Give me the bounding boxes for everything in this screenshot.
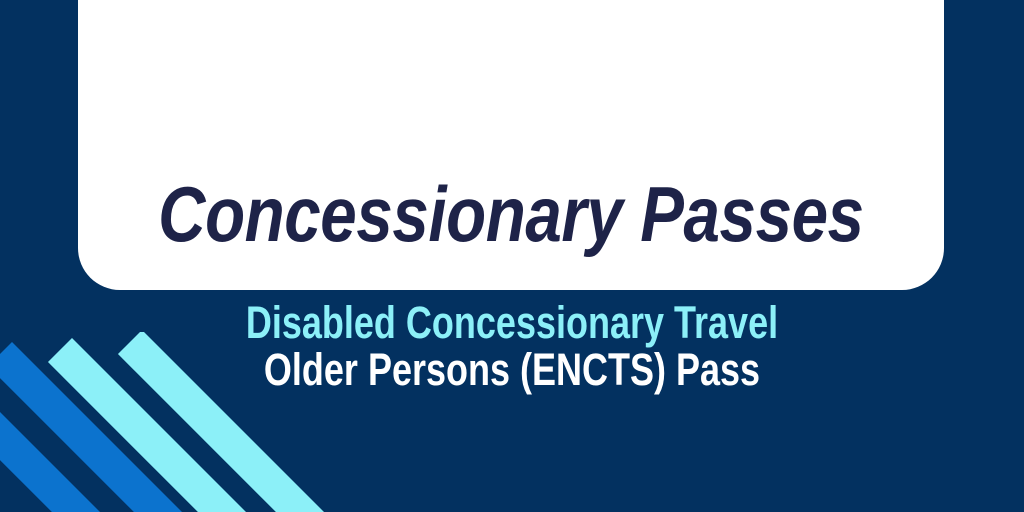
subtitle-secondary: Older Persons (ENCTS) Pass: [102, 347, 921, 394]
subtitle-block: Disabled Concessionary Travel Older Pers…: [0, 300, 1024, 394]
page-title: Concessionary Passes: [158, 176, 863, 252]
subtitle-primary: Disabled Concessionary Travel: [102, 300, 921, 347]
title-card: Concessionary Passes: [78, 0, 944, 290]
concessionary-passes-banner: Concessionary Passes Disabled Concession…: [0, 0, 1024, 512]
